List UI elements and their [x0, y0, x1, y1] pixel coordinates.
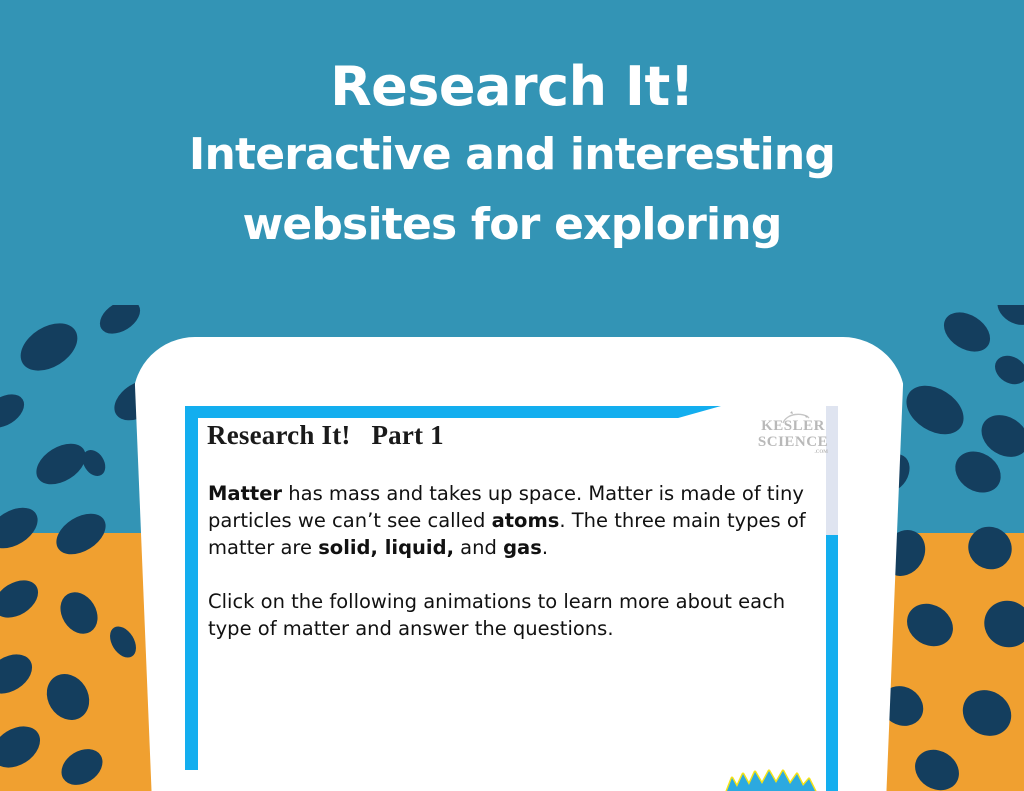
emphasis-text: solid, liquid, [318, 536, 454, 559]
kesler-science-logo: KESLER SCIENCE .COM [755, 419, 831, 463]
document-title: Research It! Part 1 [207, 420, 444, 451]
page-title: Research It! [0, 56, 1024, 118]
logo-swoosh-icon [781, 411, 811, 425]
document-accent-bar-top [185, 406, 721, 418]
page-subtitle-line-2: websites for exploring [0, 188, 1024, 258]
starburst-icon [725, 762, 817, 791]
document-paragraph-2: Click on the following animations to lea… [208, 589, 808, 643]
slide-canvas: Research It! Interactive and interesting… [0, 0, 1024, 791]
page-subtitle-line-1: Interactive and interesting [0, 118, 1024, 188]
document-paragraph-1: Matter has mass and takes up space. Matt… [208, 481, 808, 561]
body-text: . [542, 536, 548, 559]
logo-line-3: .COM [755, 450, 831, 456]
document-accent-bar-left [185, 406, 198, 770]
emphasis-text: atoms [492, 509, 560, 532]
document-accent-bar-right [826, 535, 838, 791]
emphasis-text: gas [503, 536, 542, 559]
slide-header: Research It! Interactive and interesting… [0, 56, 1024, 258]
body-text: and [454, 536, 503, 559]
document-body: Matter has mass and takes up space. Matt… [208, 481, 808, 643]
body-text: Click on the following animations to lea… [208, 590, 785, 640]
logo-line-2: SCIENCE [755, 434, 831, 450]
emphasis-text: Matter [208, 482, 282, 505]
